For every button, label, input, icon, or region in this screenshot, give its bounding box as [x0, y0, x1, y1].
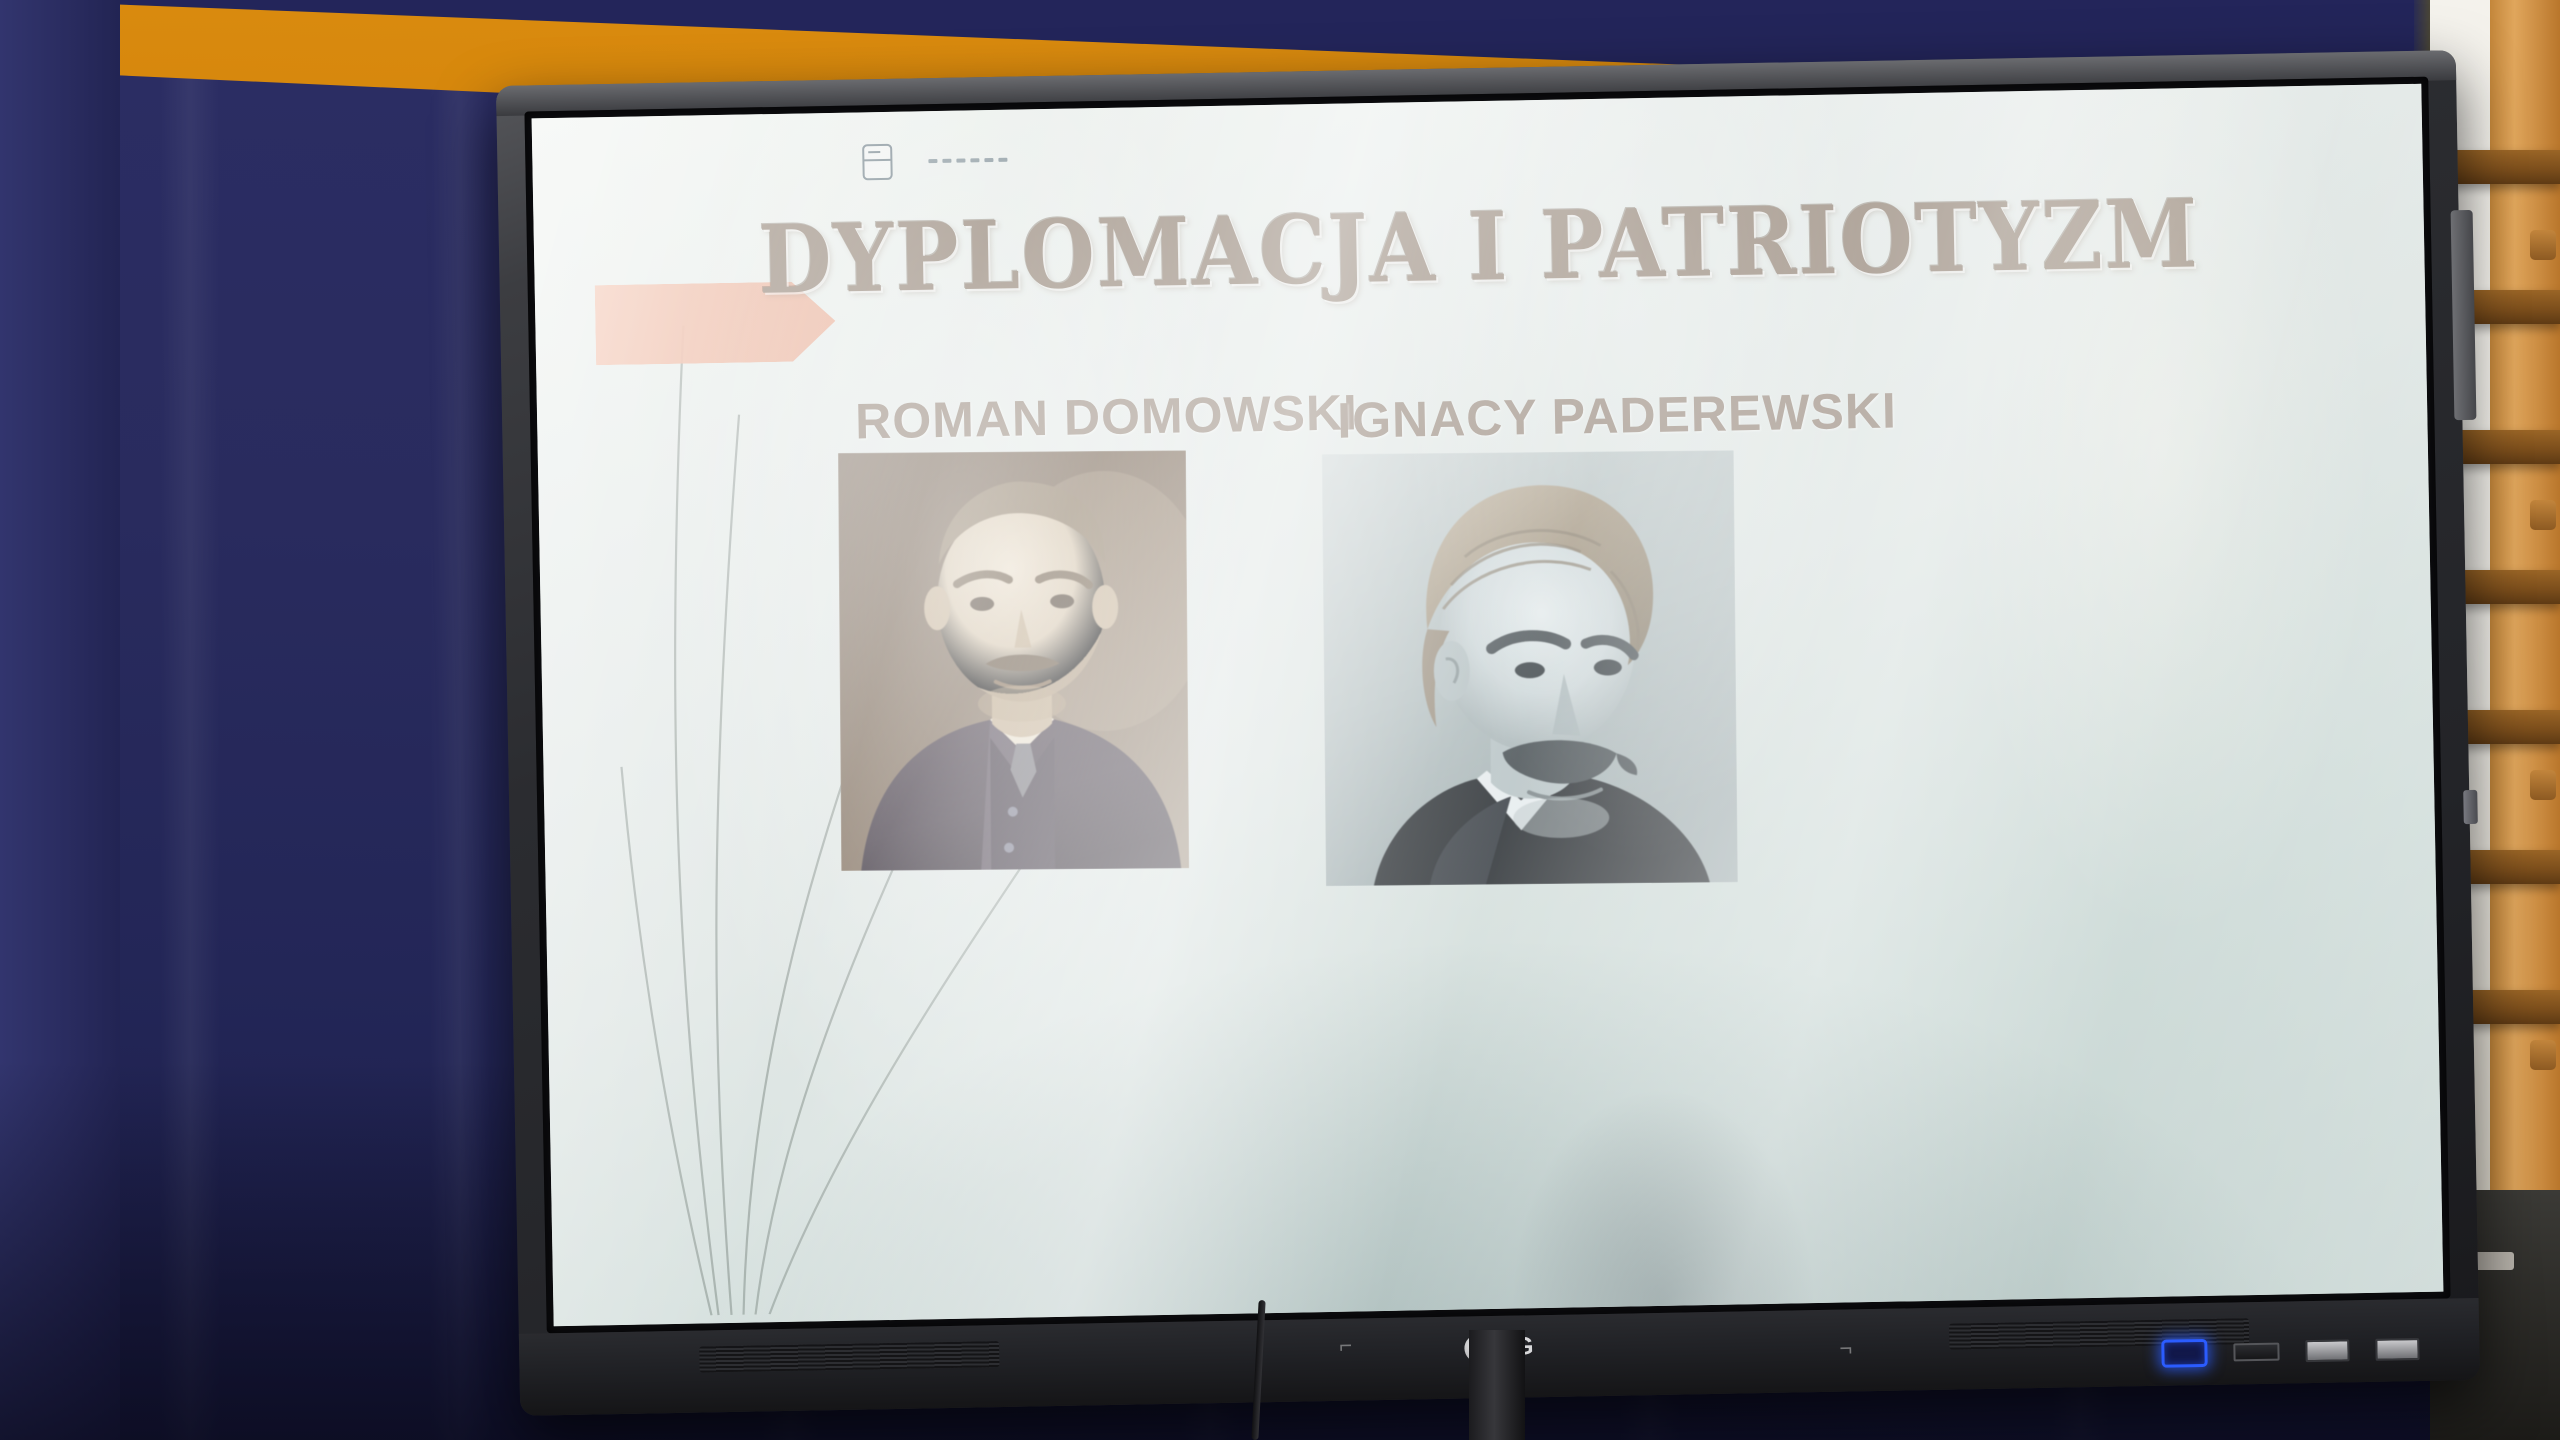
monitor-stand-column — [1469, 1330, 1525, 1440]
bezel-corner-mark-left: ⌐ — [1339, 1333, 1352, 1359]
placeholder-dashes — [928, 158, 1007, 163]
io-port-panel[interactable] — [2161, 1335, 2419, 1368]
lg-interactive-display[interactable]: DYPLOMACJA I PATRIOTYZM ROMAN DOMOWSKI I… — [496, 50, 2480, 1416]
power-led-indicator[interactable] — [2161, 1339, 2208, 1368]
monitor-side-tab[interactable] — [2463, 790, 2478, 824]
hdmi-port[interactable] — [2233, 1343, 2279, 1362]
usb-port-2[interactable] — [2375, 1338, 2419, 1361]
slide-title: DYPLOMACJA I PATRIOTYZM — [533, 174, 2425, 319]
portrait-roman-domowski — [838, 450, 1189, 871]
display-screen[interactable]: DYPLOMACJA I PATRIOTYZM ROMAN DOMOWSKI I… — [532, 84, 2444, 1326]
portrait-ignacy-paderewski — [1322, 450, 1738, 886]
speaker-grille-left — [699, 1341, 999, 1372]
slide-placeholder-widget[interactable] — [862, 142, 1008, 181]
monitor-side-grip — [2451, 210, 2477, 420]
photo-scene: DYPLOMACJA I PATRIOTYZM ROMAN DOMOWSKI I… — [0, 0, 2560, 1440]
slide-layout-icon[interactable] — [862, 144, 893, 181]
person-name-right: IGNACY PADEREWSKI — [1337, 381, 1898, 449]
usb-port-1[interactable] — [2305, 1339, 2349, 1362]
presenter-shadow — [1448, 972, 1874, 1310]
presentation-slide[interactable]: DYPLOMACJA I PATRIOTYZM ROMAN DOMOWSKI I… — [532, 84, 2444, 1326]
person-name-left: ROMAN DOMOWSKI — [855, 383, 1359, 450]
bezel-corner-mark-right: ¬ — [1839, 1335, 1852, 1361]
screen-frame: DYPLOMACJA I PATRIOTYZM ROMAN DOMOWSKI I… — [524, 77, 2450, 1334]
